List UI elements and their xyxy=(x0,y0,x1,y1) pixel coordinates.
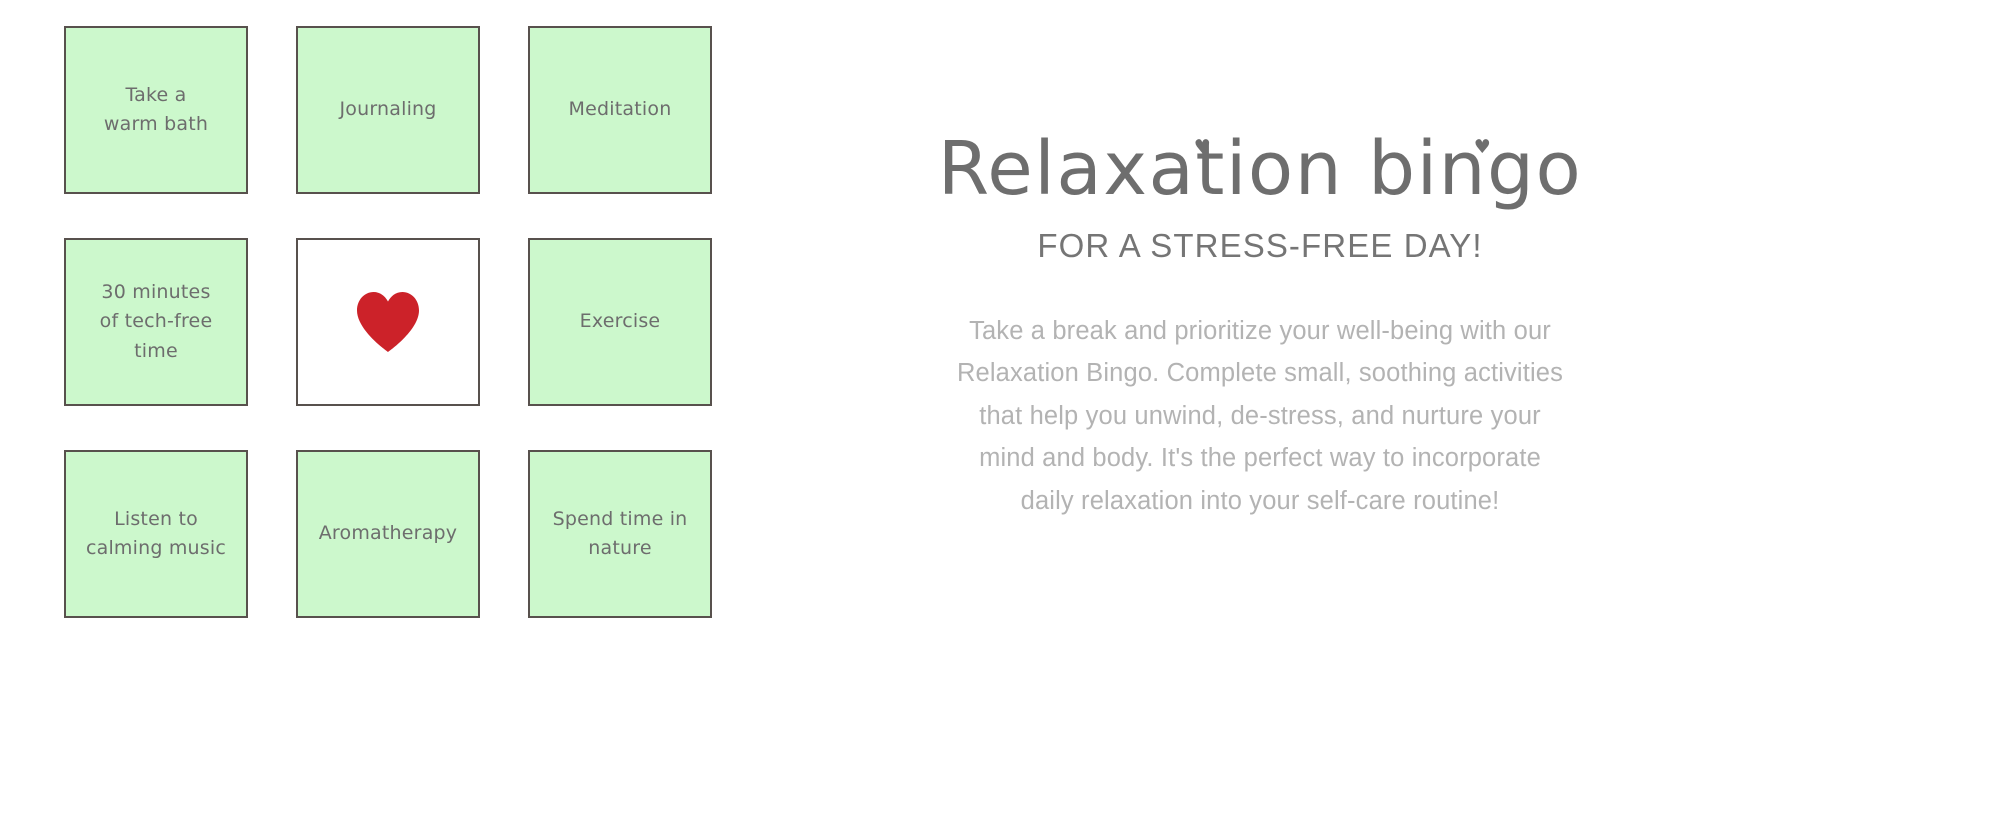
description-line: that help you unwind, de-stress, and nur… xyxy=(860,395,1660,438)
bingo-cell-spend-time-in-nature[interactable]: Spend time in nature xyxy=(528,450,712,618)
description-line: daily relaxation into your self-care rou… xyxy=(860,480,1660,523)
heart-dot-icon-i: ♥ xyxy=(1194,138,1213,157)
bingo-cell-label: Journaling xyxy=(339,95,436,124)
bingo-cell-label: Spend time in nature xyxy=(553,505,688,564)
bingo-cell-aromatherapy[interactable]: Aromatherapy xyxy=(296,450,480,618)
page-title: Relaxation bingo ♥ ♥ xyxy=(938,130,1583,210)
bingo-cell-journaling[interactable]: Journaling xyxy=(296,26,480,194)
bingo-cell-label: Meditation xyxy=(569,95,672,124)
description-line: mind and body. It's the perfect way to i… xyxy=(860,437,1660,480)
description-line: Take a break and prioritize your well-be… xyxy=(860,310,1660,353)
heart-dot-icon-j: ♥ xyxy=(1474,138,1493,157)
heart-icon xyxy=(308,246,468,398)
bingo-cell-label: Take a warm bath xyxy=(104,81,208,140)
bingo-cell-label: Exercise xyxy=(580,307,661,336)
bingo-cell-label: 30 minutes of tech-free time xyxy=(100,278,213,366)
bingo-cell-take-a-warm-bath[interactable]: Take a warm bath xyxy=(64,26,248,194)
info-panel: Relaxation bingo ♥ ♥ FOR A STRESS-FREE D… xyxy=(860,130,1660,522)
page-subtitle: FOR A STRESS-FREE DAY! xyxy=(860,226,1660,266)
bingo-grid: Take a warm bath Journaling Meditation 3… xyxy=(64,26,712,618)
description-line: Relaxation Bingo. Complete small, soothi… xyxy=(860,352,1660,395)
bingo-cell-listen-to-calming-music[interactable]: Listen to calming music xyxy=(64,450,248,618)
bingo-cell-exercise[interactable]: Exercise xyxy=(528,238,712,406)
bingo-cell-tech-free-time[interactable]: 30 minutes of tech-free time xyxy=(64,238,248,406)
bingo-cell-meditation[interactable]: Meditation xyxy=(528,26,712,194)
relaxation-bingo-page: Take a warm bath Journaling Meditation 3… xyxy=(0,0,2000,820)
bingo-cell-label: Listen to calming music xyxy=(86,505,226,564)
bingo-cell-free-space[interactable] xyxy=(296,238,480,406)
description-paragraph: Take a break and prioritize your well-be… xyxy=(860,310,1660,523)
bingo-cell-label: Aromatherapy xyxy=(319,519,458,548)
